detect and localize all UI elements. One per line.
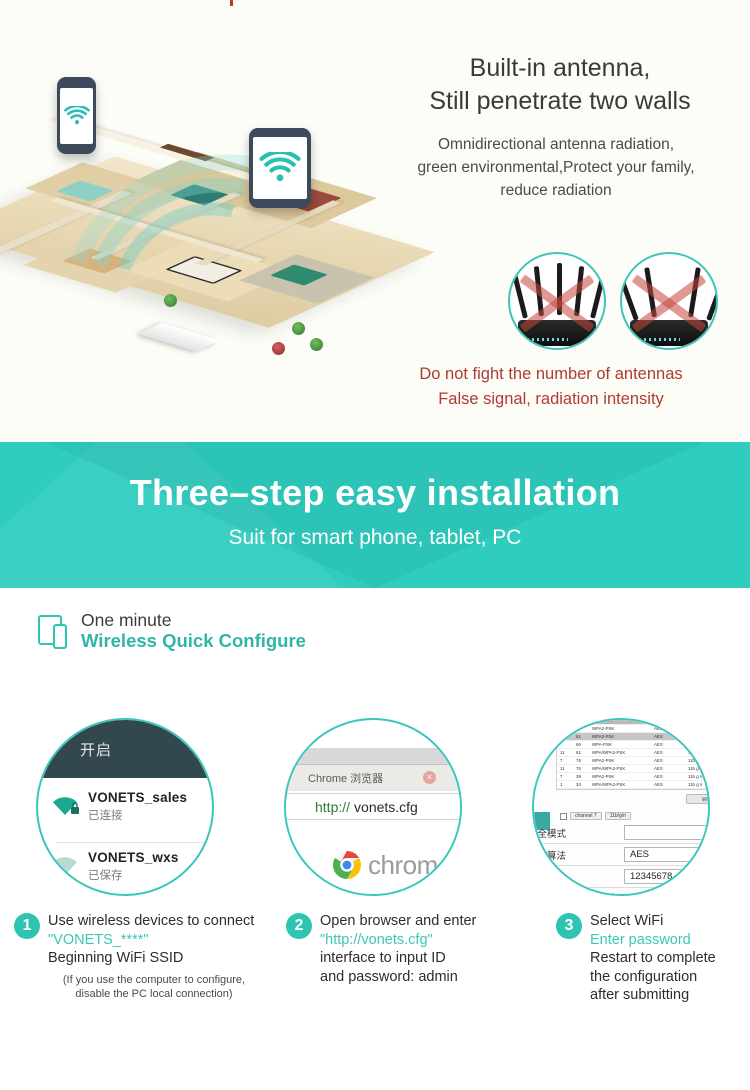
house-floorplan-illustration	[14, 86, 392, 376]
field-label: 加密算法	[532, 848, 624, 862]
form-row-encryption: 加密算法 AES	[532, 844, 710, 866]
android-wifi-screenshot: 开启 VONETS_sales 已连接 VONETS_wxs 已保存	[36, 718, 214, 896]
hero-subtitle: Omnidirectional antenna radiation, green…	[370, 133, 742, 202]
address-bar[interactable]: http:// vonets.cfg	[284, 793, 462, 820]
banner-subtitle: Suit for smart phone, tablet, PC	[0, 526, 750, 550]
step2-line1: Open browser and enter	[320, 912, 536, 931]
step-caption-2: 2 Open browser and enter "http://vonets.…	[286, 912, 536, 986]
close-icon[interactable]: ×	[423, 771, 436, 784]
table-row[interactable]: 11 76 WPA/WPA2-PSK AES 11b g n	[557, 765, 710, 773]
bad-router-image-2	[620, 252, 718, 350]
channel-select[interactable]: channel 7	[570, 812, 602, 820]
table-row[interactable]: 66 WPA-PSK AES	[557, 741, 710, 749]
browser-content: chrom	[284, 820, 462, 896]
checkbox-row-auto-connect[interactable]: 自动连接记忆热点	[532, 888, 710, 896]
table-row[interactable]: WPA2-PSK AES	[557, 725, 710, 733]
hero-sub-line1: Omnidirectional antenna radiation,	[370, 133, 742, 156]
hero-title-line2: Still penetrate two walls	[380, 85, 740, 118]
field-label: 安全模式	[532, 826, 624, 840]
step3-line1: Select WiFi	[590, 912, 750, 931]
warning-line2: False signal, radiation intensity	[360, 387, 742, 412]
installation-banner: Three–step easy installation Suit for sm…	[0, 442, 750, 588]
bad-router-image-1	[508, 252, 606, 350]
tablet-mockup	[249, 128, 311, 208]
security-mode-select[interactable]	[624, 825, 710, 840]
quick-configure-header: One minute Wireless Quick Configure	[38, 610, 306, 652]
step-column-3: WPA2-PSK AES 61 WPA2-PSK AES	[496, 718, 746, 896]
hero-sub-line2: green environmental,Protect your family,	[370, 156, 742, 179]
step-column-1: 开启 VONETS_sales 已连接 VONETS_wxs 已保存	[0, 718, 250, 896]
hero-title: Built-in antenna, Still penetrate two wa…	[380, 52, 740, 118]
refresh-list-button[interactable]: 刷新列表	[686, 794, 710, 804]
table-row[interactable]: 1 34 WPA/WPA2-PSK AES 11b g n	[557, 781, 710, 789]
url-scheme: http://	[315, 799, 350, 815]
table-row[interactable]: 7 39 WPA2-PSK AES 11b g n	[557, 773, 710, 781]
tablet-phone-icon	[38, 613, 72, 649]
list-divider	[56, 842, 214, 843]
warning-line1: Do not fight the number of antennas	[360, 362, 742, 387]
chrome-browser-screenshot: Chrome 浏览器 × http:// vonets.cfg	[284, 718, 462, 896]
antenna-warning-text: Do not fight the number of antennas Fals…	[360, 362, 742, 412]
step1-note-line1: (If you use the computer to configure,	[48, 973, 260, 988]
form-row-security-mode: 安全模式	[532, 822, 710, 844]
quick-configure-line1: One minute	[81, 610, 306, 630]
smartphone-mockup	[57, 77, 96, 154]
hero-section: Built-in antenna, Still penetrate two wa…	[0, 0, 750, 442]
password-input[interactable]: 12345678	[624, 869, 710, 884]
url-host: vonets.cfg	[354, 799, 418, 815]
form-row-password: 密钥 12345678	[532, 866, 710, 888]
wifi-ssid: VONETS_wxs	[88, 850, 214, 865]
wifi-status: 已连接	[88, 807, 214, 823]
checkbox-label: 自动连接记忆热点	[546, 891, 618, 896]
step3-line4: the configuration	[590, 968, 750, 987]
step1-line3: Beginning WiFi SSID	[48, 949, 266, 968]
wifi-icon	[259, 152, 301, 184]
browser-titlebar	[284, 748, 462, 765]
step-column-2: Chrome 浏览器 × http:// vonets.cfg	[248, 718, 498, 896]
wifi-status: 已保存	[88, 867, 214, 883]
channel-checkbox[interactable]	[560, 813, 567, 820]
wifi-icon	[64, 106, 90, 126]
quick-configure-line2: Wireless Quick Configure	[81, 630, 306, 652]
top-cropped-sliver	[230, 0, 233, 6]
auto-connect-checkbox[interactable]	[534, 894, 541, 896]
channel-selectors: channel 7 11b/g/n	[560, 810, 670, 822]
wifi-scan-table: WPA2-PSK AES 61 WPA2-PSK AES	[556, 718, 710, 790]
encryption-select[interactable]: AES	[624, 847, 710, 862]
table-row[interactable]: 61 WPA2-PSK AES	[557, 733, 710, 741]
chrome-logo-icon	[332, 850, 362, 880]
step1-note-line2: disable the PC local connection)	[48, 987, 260, 1002]
mode-select[interactable]: 11b/g/n	[605, 812, 631, 820]
table-row[interactable]: 11 61 WPA/WPA2-PSK AES 11b g n	[557, 749, 710, 757]
wifi-ssid: VONETS_sales	[88, 790, 214, 805]
scan-actions: 刷新列表	[556, 794, 710, 806]
table-header-row	[557, 718, 710, 725]
hero-sub-line3: reduce radiation	[370, 179, 742, 202]
step-number-badge: 3	[556, 913, 582, 939]
step2-line3: interface to input ID	[320, 949, 536, 968]
step-number-badge: 1	[14, 913, 40, 939]
step1-ssid: "VONETS_****"	[48, 931, 266, 950]
hero-title-line1: Built-in antenna,	[380, 52, 740, 85]
banner-title: Three–step easy installation	[0, 472, 750, 514]
config-form: 安全模式 加密算法 AES 密钥 12345678	[532, 822, 710, 896]
table-row[interactable]: 7 76 WPA2-PSK AES 11b g n	[557, 757, 710, 765]
step2-url: "http://vonets.cfg"	[320, 931, 536, 950]
field-label: 密钥	[532, 870, 624, 884]
banner-triangle-decoration	[45, 442, 705, 588]
android-header-title: 开启	[36, 720, 214, 778]
step3-password: Enter password	[590, 931, 750, 950]
step-caption-3: 3 Select WiFi Enter password Restart to …	[556, 912, 750, 1005]
chrome-brand-text: chrom	[368, 850, 438, 881]
wifi-network-row[interactable]: VONETS_sales 已连接	[36, 790, 214, 823]
wifi-network-row[interactable]: VONETS_wxs 已保存	[36, 850, 214, 883]
step3-line3: Restart to complete	[590, 949, 750, 968]
step-caption-1: 1 Use wireless devices to connect "VONET…	[14, 912, 266, 1002]
step1-note: (If you use the computer to configure, d…	[48, 973, 266, 1002]
steps-section: One minute Wireless Quick Configure 开启 V…	[0, 588, 750, 1090]
step1-line1: Use wireless devices to connect	[48, 912, 266, 931]
router-config-screenshot: WPA2-PSK AES 61 WPA2-PSK AES	[532, 718, 710, 896]
step-number-badge: 2	[286, 913, 312, 939]
step3-line5: after submitting	[590, 986, 750, 1005]
step2-line4: and password: admin	[320, 968, 536, 987]
product-page: Built-in antenna, Still penetrate two wa…	[0, 0, 750, 1090]
